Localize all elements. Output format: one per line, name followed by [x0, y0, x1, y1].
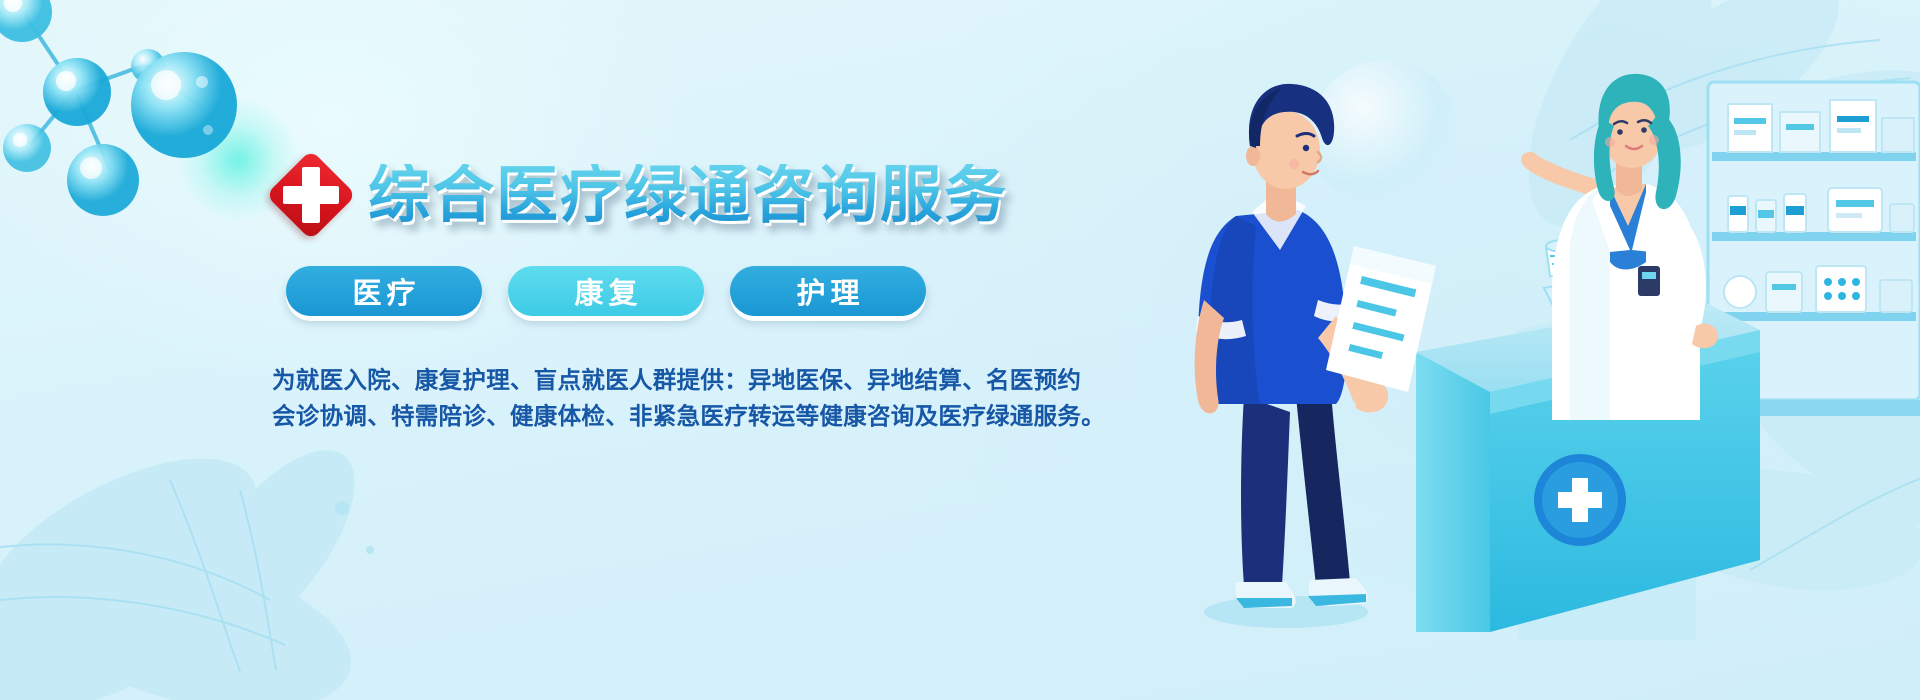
title-row: 综合医疗绿通咨询服务 — [270, 150, 1030, 240]
service-description: 为就医入院、康复护理、盲点就医人群提供：异地医保、异地结算、名医预约 会诊协调、… — [272, 362, 1030, 435]
description-line-2: 会诊协调、特需陪诊、健康体检、非紧急医疗转运等健康咨询及医疗绿通服务。 — [272, 398, 1030, 434]
counter-medical-cross-emblem — [1534, 454, 1626, 546]
service-tag-medical[interactable]: 医疗 — [286, 266, 482, 316]
banner-content: 综合医疗绿通咨询服务 医疗 康复 护理 为就医入院、康复护理、盲点就医人群提供：… — [270, 150, 1030, 435]
pharmacy-counter-illustration — [1140, 0, 1920, 700]
medical-service-banner: 综合医疗绿通咨询服务 医疗 康复 护理 为就医入院、康复护理、盲点就医人群提供：… — [0, 0, 1920, 700]
service-tag-rehabilitation[interactable]: 康复 — [508, 266, 704, 316]
service-tag-list: 医疗 康复 护理 — [286, 266, 1030, 316]
red-cross-badge-icon — [270, 154, 352, 236]
service-tag-nursing[interactable]: 护理 — [730, 266, 926, 316]
male-patient-reading-prescription — [1195, 84, 1436, 628]
description-line-1: 为就医入院、康复护理、盲点就医人群提供：异地医保、异地结算、名医预约 — [272, 362, 1030, 398]
page-title: 综合医疗绿通咨询服务 — [368, 164, 1016, 226]
